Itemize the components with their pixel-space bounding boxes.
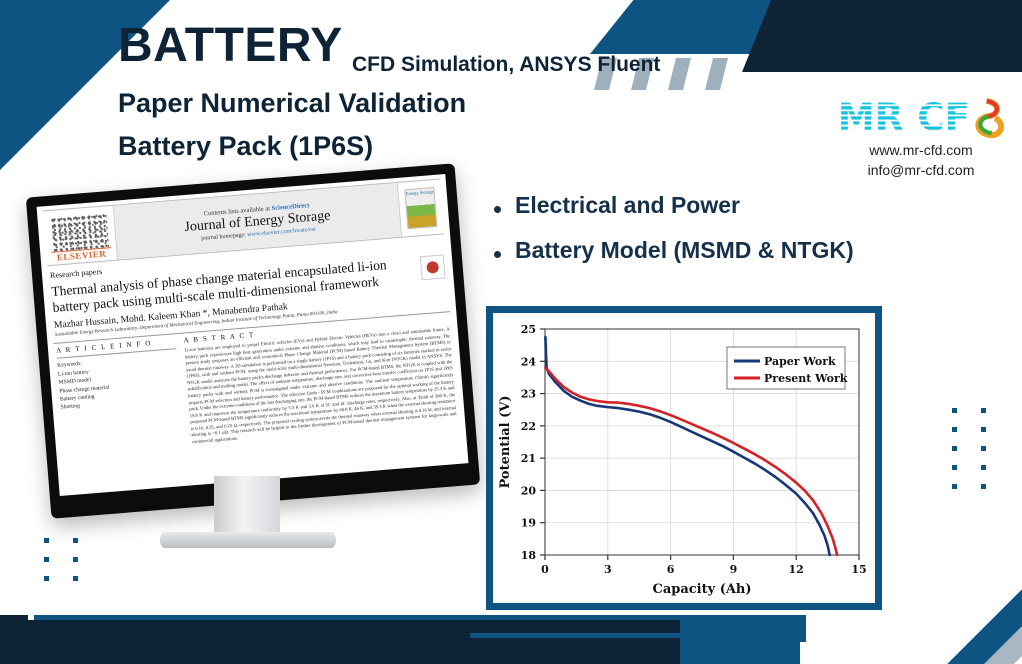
svg-text:22: 22: [521, 420, 536, 433]
dot: [981, 427, 986, 432]
dot: [981, 408, 986, 413]
svg-text:18: 18: [521, 549, 537, 562]
svg-text:CF: CF: [918, 96, 971, 139]
dot: [952, 408, 957, 413]
dot: [73, 538, 78, 543]
tl-white-stripe-2: [0, 0, 65, 69]
monitor-stand-neck: [214, 476, 280, 540]
bullet-dot-icon: [494, 206, 501, 213]
svg-text:19: 19: [521, 517, 536, 530]
svg-text:MR: MR: [838, 96, 904, 139]
dot-grid-left: [44, 538, 78, 581]
bottom-dark-band: [0, 620, 790, 664]
svg-text:9: 9: [730, 563, 738, 576]
brand-logo-block: MR CF www.mr-cfd.com info@mr-cfd.com: [836, 96, 1006, 179]
article-info-column: A R T I C L E I N F O Keywords: Li-ion b…: [56, 338, 184, 456]
brand-email[interactable]: info@mr-cfd.com: [836, 162, 1006, 180]
svg-text:23: 23: [521, 388, 536, 401]
svg-text:Present Work: Present Work: [764, 372, 848, 385]
svg-text:Paper Work: Paper Work: [764, 355, 836, 368]
abstract-column: A B S T R A C T Li-ion batteries are emp…: [183, 316, 457, 446]
svg-text:20: 20: [521, 484, 537, 497]
slide-canvas: BATTERY CFD Simulation, ANSYS Fluent Pap…: [0, 0, 1022, 664]
svg-text:25: 25: [521, 323, 536, 336]
bullet-dot-icon: [494, 251, 501, 258]
dot: [73, 557, 78, 562]
bullet-label: Battery Model (MSMD & NTGK): [515, 237, 854, 264]
dot: [952, 484, 957, 489]
dot: [44, 576, 49, 581]
mr-cfd-logo-icon: MR CF: [836, 96, 1005, 140]
journal-cover-thumb: Energy Storage: [397, 180, 444, 237]
svg-text:6: 6: [667, 563, 675, 576]
elsevier-logo: ELSEVIER: [43, 206, 118, 266]
top-right-dark-parallelogram: [742, 0, 1022, 72]
svg-text:21: 21: [521, 452, 536, 465]
svg-text:Potential (V): Potential (V): [498, 395, 513, 488]
list-item: Battery Model (MSMD & NTGK): [494, 237, 854, 264]
page-title: BATTERY: [118, 22, 343, 70]
tr-bar-4: [705, 58, 728, 90]
monitor-screen: ELSEVIER Contents lists available at Sci…: [37, 174, 469, 496]
monitor-mockup: ELSEVIER Contents lists available at Sci…: [38, 180, 470, 510]
dot: [952, 446, 957, 451]
dot: [981, 484, 986, 489]
dot-grid-right: [952, 408, 986, 489]
dot: [981, 465, 986, 470]
cover-image: Energy Storage: [404, 187, 437, 229]
dot: [952, 465, 957, 470]
keywords-block: Keywords: Li-ion battery MSMD model Phas…: [57, 353, 181, 413]
dot: [44, 557, 49, 562]
research-paper-page: ELSEVIER Contents lists available at Sci…: [37, 174, 466, 460]
svg-text:Capacity (Ah): Capacity (Ah): [652, 582, 751, 597]
svg-text:24: 24: [521, 355, 537, 368]
list-item: Electrical and Power: [494, 192, 854, 219]
page-subtitle: CFD Simulation, ANSYS Fluent: [352, 53, 660, 77]
tl-gray-stripe: [0, 0, 51, 104]
dot: [73, 576, 78, 581]
svg-text:0: 0: [541, 563, 549, 576]
crossmark-dot: [426, 261, 439, 274]
crossmark-icon: [420, 254, 446, 280]
monitor-stand-base: [160, 532, 336, 548]
svg-text:3: 3: [604, 563, 612, 576]
tl-white-stripe-1: [0, 0, 31, 41]
headline-line-3: Battery Pack (1P6S): [118, 131, 373, 162]
dot: [981, 446, 986, 451]
bottom-right-stripe-decoration: [768, 550, 1022, 664]
headline-line-2: Paper Numerical Validation: [118, 88, 466, 119]
bullet-label: Electrical and Power: [515, 192, 740, 219]
monitor-bezel: ELSEVIER Contents lists available at Sci…: [26, 163, 480, 518]
tr-bar-3: [668, 58, 691, 90]
dot: [952, 427, 957, 432]
abstract-text: Li-ion batteries are employed to propel …: [184, 327, 457, 446]
bottom-right-frame-line: [470, 633, 800, 638]
feature-bullet-list: Electrical and Power Battery Model (MSMD…: [494, 192, 854, 282]
brand-website[interactable]: www.mr-cfd.com: [836, 142, 1006, 160]
dot: [44, 538, 49, 543]
elsevier-tree-icon: [50, 213, 109, 251]
